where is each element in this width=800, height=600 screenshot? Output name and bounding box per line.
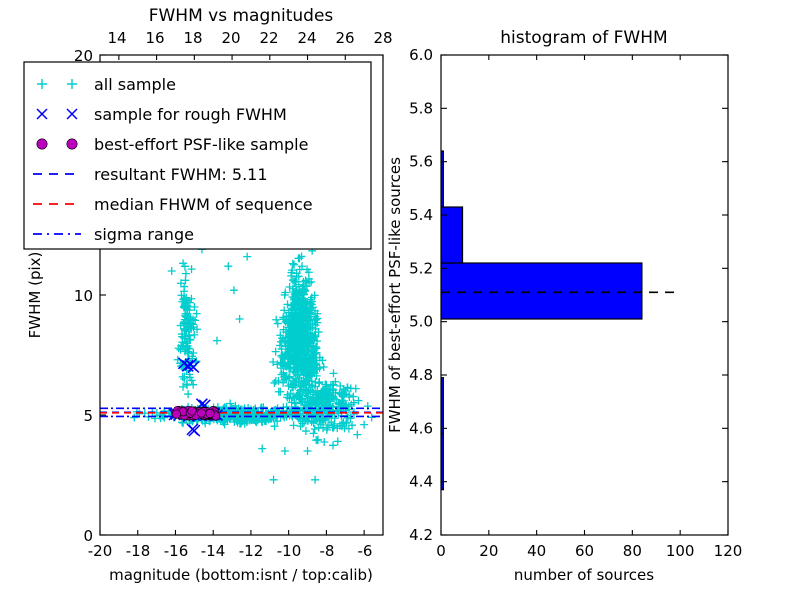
- figure-canvas: FWHM vs magnitudes 14 16 18 20 22 24 26 …: [0, 0, 800, 600]
- x-tick-label: 100: [666, 542, 695, 560]
- x-tick-label: 80: [623, 542, 642, 560]
- top-tick-label: 18: [183, 29, 202, 47]
- legend-item-label: all sample: [94, 75, 176, 94]
- y-tick-label: 4.2: [409, 526, 433, 544]
- legend-item-label: median FHWM of sequence: [94, 195, 313, 214]
- legend-item-label: resultant FWHM: 5.11: [94, 165, 268, 184]
- legend-item-label: sample for rough FWHM: [94, 105, 287, 124]
- top-tick-label: 20: [221, 29, 240, 47]
- x-tick-label: -20: [88, 542, 113, 560]
- x-tick-label: -18: [126, 542, 151, 560]
- y-tick-label: 5.2: [409, 259, 433, 277]
- legend-item-label: best-effort PSF-like sample: [94, 135, 308, 154]
- x-tick-label: -14: [201, 542, 226, 560]
- x-tick-label: -8: [320, 542, 335, 560]
- left-panel-xlabel: magnitude (bottom:isnt / top:calib): [109, 566, 373, 584]
- top-tick-label: 14: [107, 29, 126, 47]
- top-tick-label: 26: [335, 29, 354, 47]
- right-panel-ylabel: FWHM of best-effort PSF-like sources: [386, 157, 404, 433]
- y-tick-label: 4.6: [409, 419, 433, 437]
- x-tick-label: 40: [527, 542, 546, 560]
- y-tick-label: 6.0: [409, 46, 433, 64]
- right-panel-xlabel: number of sources: [514, 566, 654, 584]
- x-tick-label: -12: [239, 542, 264, 560]
- x-tick-label: 0: [436, 542, 446, 560]
- top-tick-label: 28: [373, 29, 392, 47]
- y-tick-label: 5.4: [409, 206, 433, 224]
- right-panel-title: histogram of FWHM: [500, 28, 667, 48]
- y-tick-label: 10: [74, 287, 93, 305]
- top-tick-label: 24: [297, 29, 316, 47]
- y-tick-label: 4.8: [409, 366, 433, 384]
- x-tick-label: -16: [164, 542, 189, 560]
- x-tick-label: 20: [479, 542, 498, 560]
- legend-box: [24, 62, 371, 249]
- y-tick-label: 5: [83, 407, 93, 425]
- y-tick-label: 4.4: [409, 473, 433, 491]
- left-panel-ylabel: FWHM (pix): [26, 252, 44, 339]
- top-tick-label: 22: [259, 29, 278, 47]
- x-tick-label: 120: [714, 542, 743, 560]
- left-panel-title: FWHM vs magnitudes: [149, 6, 334, 26]
- top-tick-label: 16: [145, 29, 164, 47]
- x-tick-label: 60: [575, 542, 594, 560]
- legend[interactable]: all samplesample for rough FWHMbest-effo…: [24, 62, 371, 249]
- x-tick-label: -6: [358, 542, 373, 560]
- matplotlib-figure: FWHM vs magnitudes 14 16 18 20 22 24 26 …: [0, 0, 800, 600]
- legend-item-label: sigma range: [94, 225, 194, 244]
- y-tick-label: 5.8: [409, 99, 433, 117]
- y-tick-label: 5.0: [409, 313, 433, 331]
- y-tick-label: 5.6: [409, 153, 433, 171]
- series-best-effort-psf-like-sample: [171, 406, 220, 420]
- histogram-bar: [441, 263, 642, 319]
- x-tick-label: -10: [277, 542, 302, 560]
